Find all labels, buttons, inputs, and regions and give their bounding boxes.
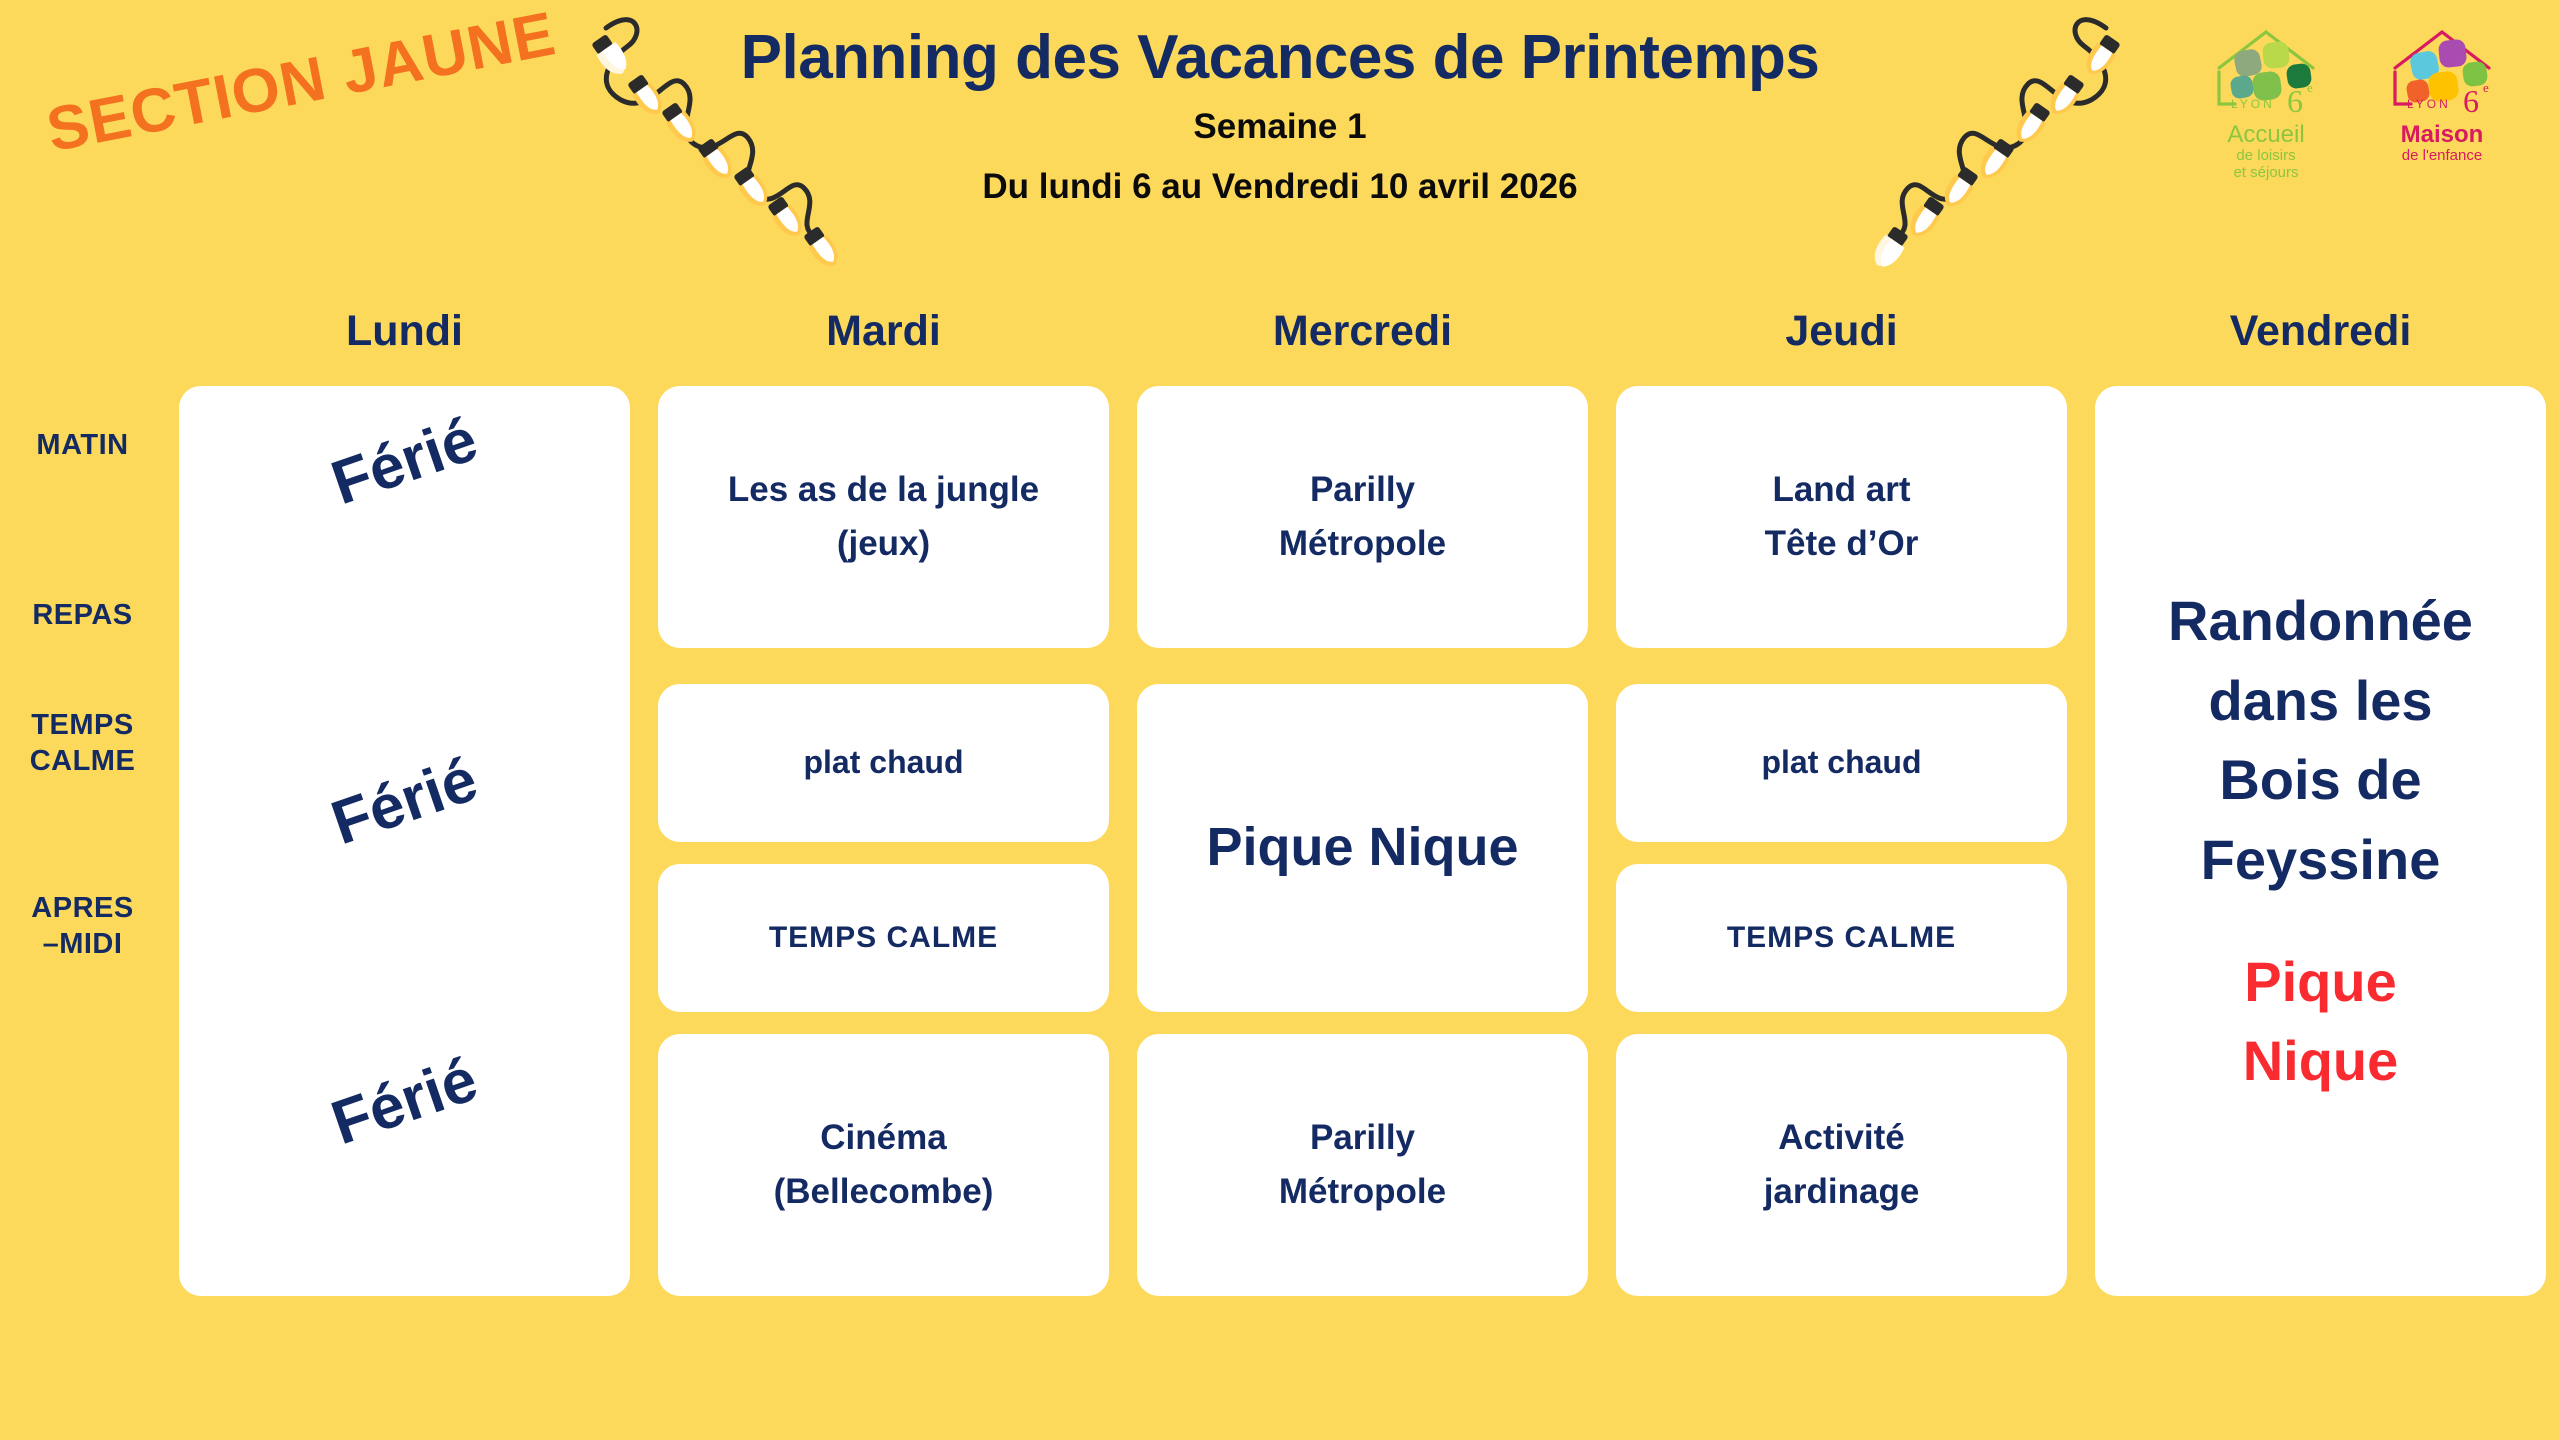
logo-name: Accueil bbox=[2196, 122, 2336, 147]
day-header-jeudi: Jeudi bbox=[1602, 307, 2081, 356]
column-vendredi: Randonnée dans les Bois de Feyssine Piqu… bbox=[2081, 362, 2560, 1420]
column-mercredi: Parilly Métropole Pique Nique Parilly Mé… bbox=[1123, 362, 1602, 1420]
svg-text:6: 6 bbox=[2287, 83, 2303, 118]
cell-text-line1: plat chaud bbox=[1761, 738, 1921, 788]
row-label-matin: MATIN bbox=[0, 427, 165, 463]
row-label-column: MATIN REPAS TEMPS CALME APRES –MIDI bbox=[0, 362, 165, 1420]
cell-lundi-full[interactable]: Férié Férié Férié bbox=[179, 386, 630, 1296]
week-label: Semaine 1 bbox=[0, 107, 2560, 147]
logo-sub-1: de l'enfance bbox=[2372, 147, 2512, 164]
svg-text:e: e bbox=[2307, 80, 2313, 95]
cell-jeudi-temps-calme[interactable]: TEMPS CALME bbox=[1616, 864, 2067, 1012]
svg-text:6: 6 bbox=[2463, 83, 2479, 118]
cell-text-line2: jardinage bbox=[1764, 1165, 1920, 1219]
svg-text:LYON: LYON bbox=[2407, 97, 2451, 111]
cell-text-line2: (jeux) bbox=[837, 517, 930, 571]
cell-mardi-apres-midi[interactable]: Cinéma (Bellecombe) bbox=[658, 1034, 1109, 1296]
cell-mercredi-matin[interactable]: Parilly Métropole bbox=[1137, 386, 1588, 648]
cell-text-line2: dans les bbox=[2208, 661, 2432, 741]
cell-text-line1: Cinéma bbox=[820, 1111, 946, 1165]
logo-sub-2: et séjours bbox=[2196, 164, 2336, 181]
column-mardi: Les as de la jungle (jeux) plat chaud TE… bbox=[644, 362, 1123, 1420]
row-label-apres-line2: –MIDI bbox=[0, 926, 165, 962]
logo-sub-1: de loisirs bbox=[2196, 147, 2336, 164]
ferie-label-apres: Férié bbox=[180, 995, 630, 1209]
row-label-repas: REPAS bbox=[0, 597, 165, 633]
cell-text-line1: Les as de la jungle bbox=[728, 463, 1039, 517]
column-lundi: Férié Férié Férié bbox=[165, 362, 644, 1420]
cell-text-line1: Land art bbox=[1772, 463, 1910, 517]
cell-text-line1: plat chaud bbox=[803, 738, 963, 788]
cell-text-line1: Pique Nique bbox=[1206, 806, 1518, 890]
logo-maison-enfance: LYON 6 e Maison de l'enfance bbox=[2372, 22, 2512, 164]
string-lights-right-icon bbox=[1796, 8, 2136, 292]
row-label-temps-calme: TEMPS CALME bbox=[0, 707, 165, 780]
cell-text-line1: TEMPS CALME bbox=[1727, 915, 1956, 962]
cell-text-red-line1: Pique bbox=[2244, 942, 2396, 1022]
house-pink-icon: LYON 6 e bbox=[2377, 22, 2507, 118]
cell-jeudi-matin[interactable]: Land art Tête d’Or bbox=[1616, 386, 2067, 648]
cell-text-line1: TEMPS CALME bbox=[769, 915, 998, 962]
cell-mercredi-midday[interactable]: Pique Nique bbox=[1137, 684, 1588, 1012]
cell-jeudi-apres-midi[interactable]: Activité jardinage bbox=[1616, 1034, 2067, 1296]
cell-jeudi-repas[interactable]: plat chaud bbox=[1616, 684, 2067, 842]
cell-mercredi-apres-midi[interactable]: Parilly Métropole bbox=[1137, 1034, 1588, 1296]
cell-mardi-repas[interactable]: plat chaud bbox=[658, 684, 1109, 842]
row-label-apres-midi: APRES –MIDI bbox=[0, 890, 165, 963]
planning-grid: Lundi Mardi Mercredi Jeudi Vendredi MATI… bbox=[0, 300, 2560, 1420]
row-label-apres-line1: APRES bbox=[0, 890, 165, 926]
svg-text:LYON: LYON bbox=[2231, 97, 2275, 111]
house-green-icon: LYON 6 e bbox=[2201, 22, 2331, 118]
cell-text-line2: Métropole bbox=[1279, 1165, 1446, 1219]
grid-corner-spacer bbox=[0, 300, 165, 362]
cell-text-line3: Bois de bbox=[2219, 740, 2421, 820]
cell-text-line1: Randonnée bbox=[2168, 581, 2473, 661]
ferie-label-matin: Férié bbox=[180, 355, 630, 569]
column-jeudi: Land art Tête d’Or plat chaud TEMPS CALM… bbox=[1602, 362, 2081, 1420]
date-range: Du lundi 6 au Vendredi 10 avril 2026 bbox=[0, 167, 2560, 207]
ferie-label-midi: Férié bbox=[180, 695, 630, 909]
cell-text-line1: Parilly bbox=[1310, 1111, 1415, 1165]
cell-vendredi-full[interactable]: Randonnée dans les Bois de Feyssine Piqu… bbox=[2095, 386, 2546, 1296]
cell-text-red-line2: Nique bbox=[2243, 1021, 2399, 1101]
section-banner: SECTION JAUNE bbox=[41, 0, 561, 166]
cell-text-line1: Activité bbox=[1778, 1111, 1904, 1165]
svg-text:e: e bbox=[2483, 80, 2489, 95]
cell-text-line4: Feyssine bbox=[2201, 820, 2441, 900]
day-header-mardi: Mardi bbox=[644, 307, 1123, 356]
day-header-mercredi: Mercredi bbox=[1123, 307, 1602, 356]
row-label-temps-line2: CALME bbox=[0, 743, 165, 779]
cell-text-line1: Parilly bbox=[1310, 463, 1415, 517]
row-label-temps-line1: TEMPS bbox=[0, 707, 165, 743]
day-header-vendredi: Vendredi bbox=[2081, 307, 2560, 356]
cell-text-line2: (Bellecombe) bbox=[774, 1165, 994, 1219]
cell-mardi-matin[interactable]: Les as de la jungle (jeux) bbox=[658, 386, 1109, 648]
string-lights-left-icon bbox=[576, 8, 916, 292]
logo-accueil-loisirs: LYON 6 e Accueil de loisirs et séjours bbox=[2196, 22, 2336, 182]
cell-mardi-temps-calme[interactable]: TEMPS CALME bbox=[658, 864, 1109, 1012]
logo-group: LYON 6 e Accueil de loisirs et séjours L… bbox=[2196, 22, 2512, 182]
cell-text-line2: Tête d’Or bbox=[1765, 517, 1919, 571]
day-header-lundi: Lundi bbox=[165, 307, 644, 356]
cell-text-line2: Métropole bbox=[1279, 517, 1446, 571]
logo-name: Maison bbox=[2372, 122, 2512, 147]
